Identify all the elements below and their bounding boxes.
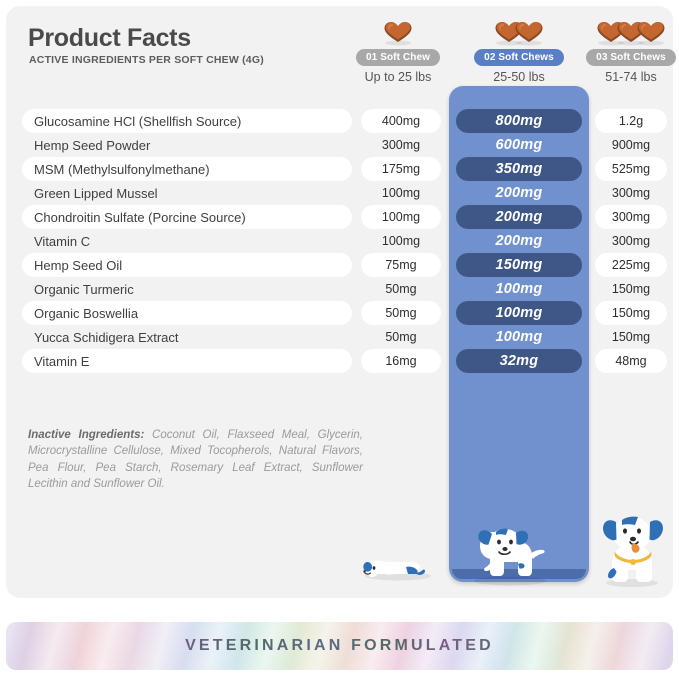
inactive-ingredients: Inactive Ingredients: Coconut Oil, Flaxs…: [28, 427, 363, 492]
soft-chew-single-icon: [339, 14, 457, 46]
dose-value-recommended: 200mg: [456, 205, 582, 229]
dose-column-header-1: 01 Soft Chew Up to 25 lbs: [339, 14, 457, 84]
dose-badge[interactable]: 03 Soft Chews: [586, 49, 676, 66]
dose-value: 100mg: [361, 181, 441, 205]
veterinarian-formulated-text: VETERINARIAN FORMULATED: [185, 637, 494, 655]
soft-chew-double-icon: [460, 14, 578, 46]
table-row: Vitamin E 16mg 32mg 48mg: [6, 349, 673, 373]
dose-value-recommended: 32mg: [456, 349, 582, 373]
dose-badge-active[interactable]: 02 Soft Chews: [474, 49, 564, 66]
dog-walking-icon: [458, 514, 561, 591]
ingredient-name: Hemp Seed Oil: [22, 253, 352, 277]
dose-value: 100mg: [361, 229, 441, 253]
dose-weight: 51-74 lbs: [572, 70, 679, 84]
soft-chew-triple-icon: [572, 14, 679, 46]
dose-value: 150mg: [595, 301, 667, 325]
page-title: Product Facts: [28, 24, 191, 53]
table-row: Vitamin C 100mg 200mg 300mg: [6, 229, 673, 253]
dose-badge[interactable]: 01 Soft Chew: [356, 49, 440, 66]
dose-value: 16mg: [361, 349, 441, 373]
ingredients-table: Glucosamine HCl (Shellfish Source) 400mg…: [6, 109, 673, 373]
ingredient-name: MSM (Methylsulfonylmethane): [22, 157, 352, 181]
dose-value: 300mg: [361, 133, 441, 157]
dog-sitting-icon: [594, 506, 670, 593]
dose-value-recommended: 350mg: [456, 157, 582, 181]
dose-value: 48mg: [595, 349, 667, 373]
ingredient-name: Yucca Schidigera Extract: [22, 325, 352, 349]
dose-weight: 25-50 lbs: [460, 70, 578, 84]
page-subtitle: ACTIVE INGREDIENTS PER SOFT CHEW (4G): [29, 54, 264, 66]
dose-column-header-2: 02 Soft Chews 25-50 lbs: [460, 14, 578, 84]
table-row: Green Lipped Mussel 100mg 200mg 300mg: [6, 181, 673, 205]
ingredient-name: Glucosamine HCl (Shellfish Source): [22, 109, 352, 133]
table-row: Yucca Schidigera Extract 50mg 100mg 150m…: [6, 325, 673, 349]
table-row: Hemp Seed Powder 300mg 600mg 900mg: [6, 133, 673, 157]
dose-value: 50mg: [361, 277, 441, 301]
dose-value: 525mg: [595, 157, 667, 181]
dose-weight: Up to 25 lbs: [339, 70, 457, 84]
dose-value: 150mg: [595, 325, 667, 349]
dose-value-recommended: 150mg: [456, 253, 582, 277]
ingredient-name: Hemp Seed Powder: [22, 133, 352, 157]
dose-value: 900mg: [595, 133, 667, 157]
table-row: Organic Boswellia 50mg 100mg 150mg: [6, 301, 673, 325]
dose-value: 225mg: [595, 253, 667, 277]
veterinarian-formulated-banner: VETERINARIAN FORMULATED: [6, 622, 673, 670]
dose-value: 1.2g: [595, 109, 667, 133]
dose-value: 100mg: [361, 205, 441, 229]
table-row: MSM (Methylsulfonylmethane) 175mg 350mg …: [6, 157, 673, 181]
dose-value-recommended: 100mg: [456, 301, 582, 325]
dose-column-header-3: 03 Soft Chews 51-74 lbs: [572, 14, 679, 84]
ingredient-name: Vitamin C: [22, 229, 352, 253]
dose-value: 150mg: [595, 277, 667, 301]
dose-value: 175mg: [361, 157, 441, 181]
dog-lying-icon: [358, 530, 436, 587]
dose-value-recommended: 800mg: [456, 109, 582, 133]
ingredient-name: Chondroitin Sulfate (Porcine Source): [22, 205, 352, 229]
inactive-ingredients-label: Inactive Ingredients:: [28, 429, 144, 441]
dose-value: 300mg: [595, 181, 667, 205]
dose-value: 300mg: [595, 205, 667, 229]
dose-value: 400mg: [361, 109, 441, 133]
table-row: Chondroitin Sulfate (Porcine Source) 100…: [6, 205, 673, 229]
dose-value-recommended: 600mg: [456, 133, 582, 157]
ingredient-name: Green Lipped Mussel: [22, 181, 352, 205]
dose-value-recommended: 100mg: [456, 325, 582, 349]
dose-value-recommended: 100mg: [456, 277, 582, 301]
dose-value: 300mg: [595, 229, 667, 253]
ingredient-name: Organic Boswellia: [22, 301, 352, 325]
dose-value-recommended: 200mg: [456, 181, 582, 205]
dose-value: 75mg: [361, 253, 441, 277]
table-row: Glucosamine HCl (Shellfish Source) 400mg…: [6, 109, 673, 133]
product-facts-card: Product Facts ACTIVE INGREDIENTS PER SOF…: [6, 6, 673, 598]
ingredient-name: Organic Turmeric: [22, 277, 352, 301]
dose-value-recommended: 200mg: [456, 229, 582, 253]
ingredient-name: Vitamin E: [22, 349, 352, 373]
dose-value: 50mg: [361, 325, 441, 349]
table-row: Organic Turmeric 50mg 100mg 150mg: [6, 277, 673, 301]
dose-value: 50mg: [361, 301, 441, 325]
table-row: Hemp Seed Oil 75mg 150mg 225mg: [6, 253, 673, 277]
